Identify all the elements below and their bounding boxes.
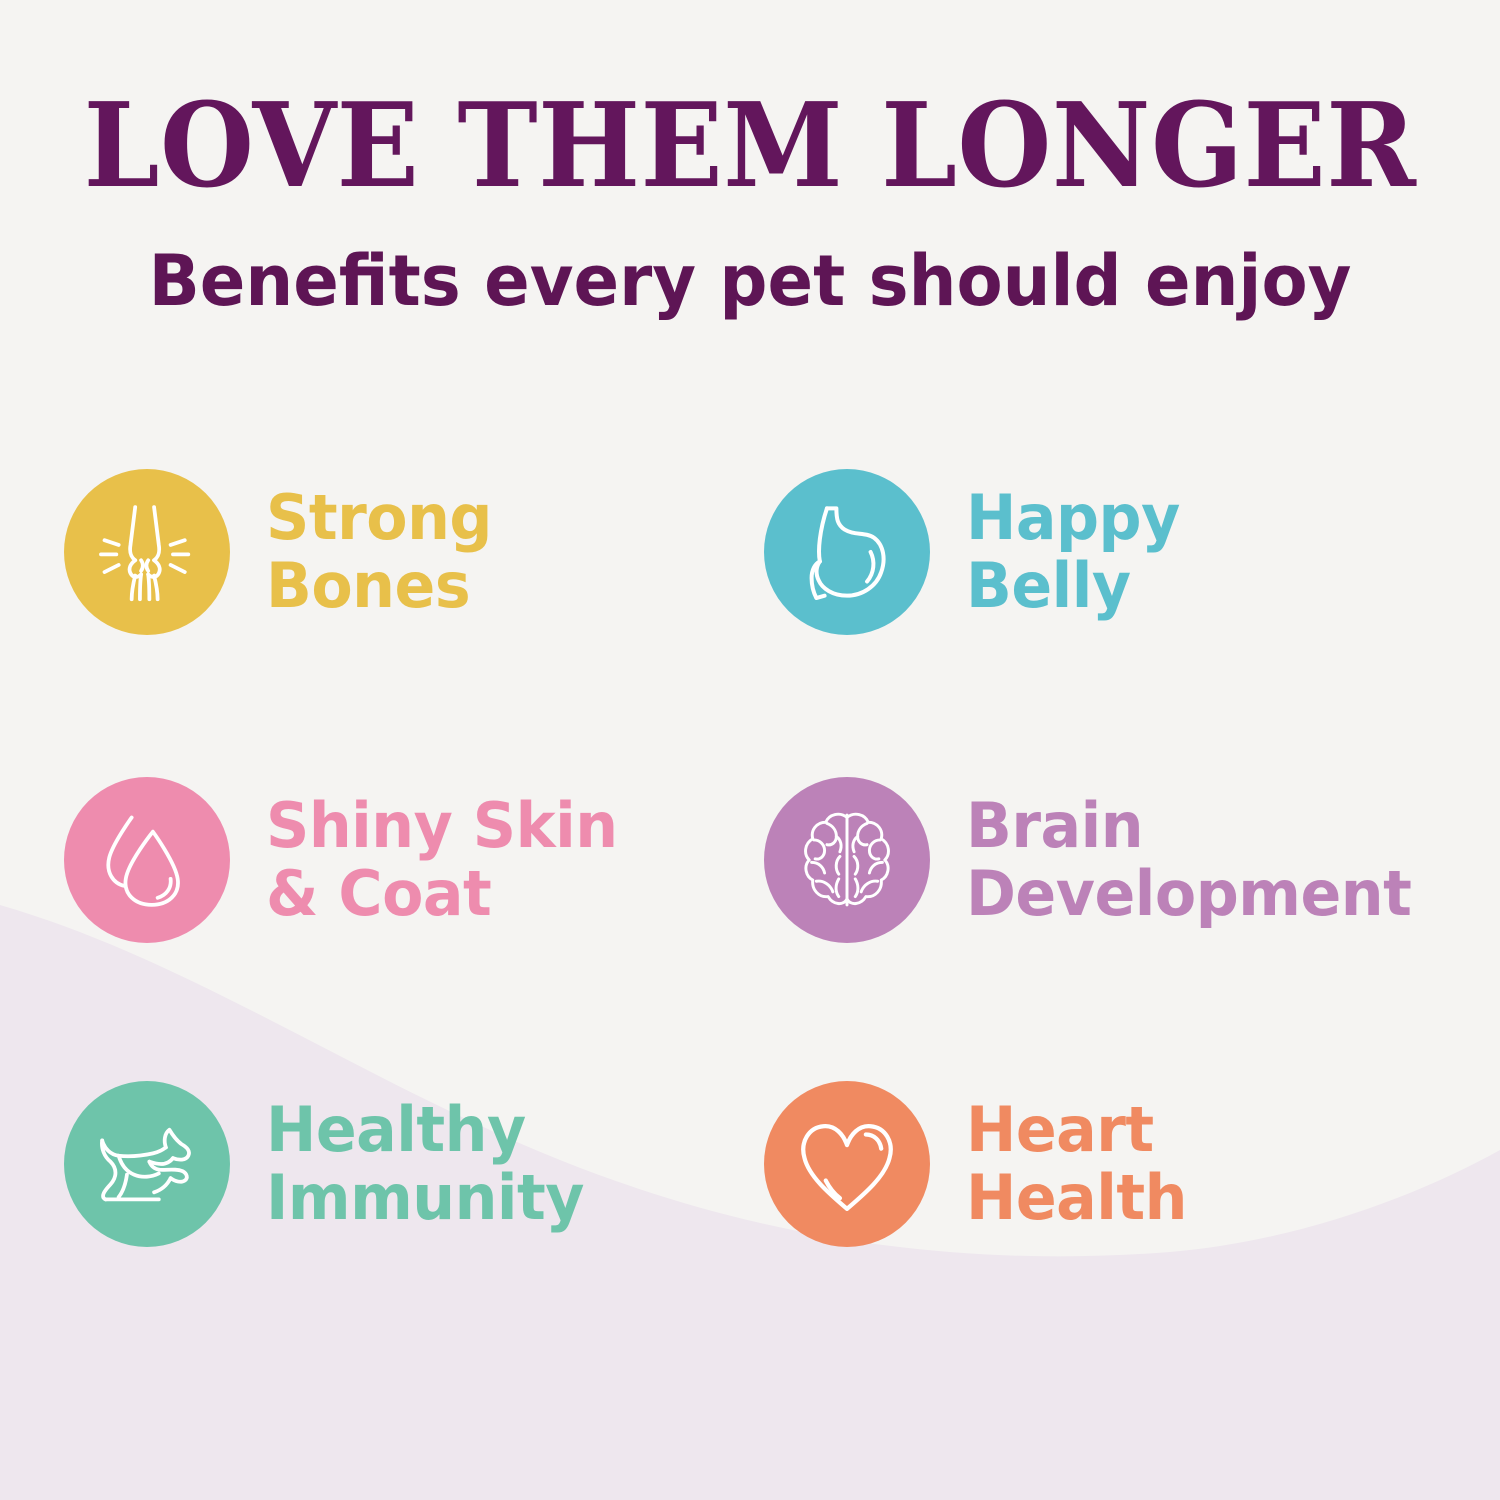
page-title: LOVE THEM LONGER xyxy=(53,0,1448,204)
heart-icon xyxy=(788,1105,906,1223)
benefit-icon-circle xyxy=(64,777,230,943)
benefit-item-shiny-skin-and-coat[interactable]: Shiny Skin & Coat xyxy=(64,777,628,943)
benefit-label: Happy Belly xyxy=(966,484,1180,620)
benefit-icon-circle xyxy=(64,469,230,635)
benefit-item-brain-development[interactable]: Brain Development xyxy=(764,777,1425,943)
benefit-icon-circle xyxy=(764,1081,930,1247)
benefit-label: Heart Health xyxy=(966,1096,1187,1232)
benefit-icon-circle xyxy=(764,777,930,943)
benefit-label: Shiny Skin & Coat xyxy=(266,792,618,928)
benefits-grid: Strong Bones Happy Belly xyxy=(0,455,1500,1355)
benefit-label: Strong Bones xyxy=(266,484,492,620)
water-droplets-icon xyxy=(88,801,206,919)
brain-icon xyxy=(788,801,906,919)
benefit-item-happy-belly[interactable]: Happy Belly xyxy=(764,469,1186,635)
benefit-item-strong-bones[interactable]: Strong Bones xyxy=(64,469,499,635)
running-dog-icon xyxy=(88,1105,206,1223)
benefit-label: Brain Development xyxy=(966,792,1411,928)
benefit-icon-circle xyxy=(764,469,930,635)
benefit-icon-circle xyxy=(64,1081,230,1247)
bone-joint-icon xyxy=(88,493,206,611)
benefit-item-heart-health[interactable]: Heart Health xyxy=(764,1081,1194,1247)
benefit-item-healthy-immunity[interactable]: Healthy Immunity xyxy=(64,1081,594,1247)
benefit-label: Healthy Immunity xyxy=(266,1096,584,1232)
page-subtitle: Benefits every pet should enjoy xyxy=(30,204,1470,316)
stomach-icon xyxy=(788,493,906,611)
header: LOVE THEM LONGER Benefits every pet shou… xyxy=(0,0,1500,316)
